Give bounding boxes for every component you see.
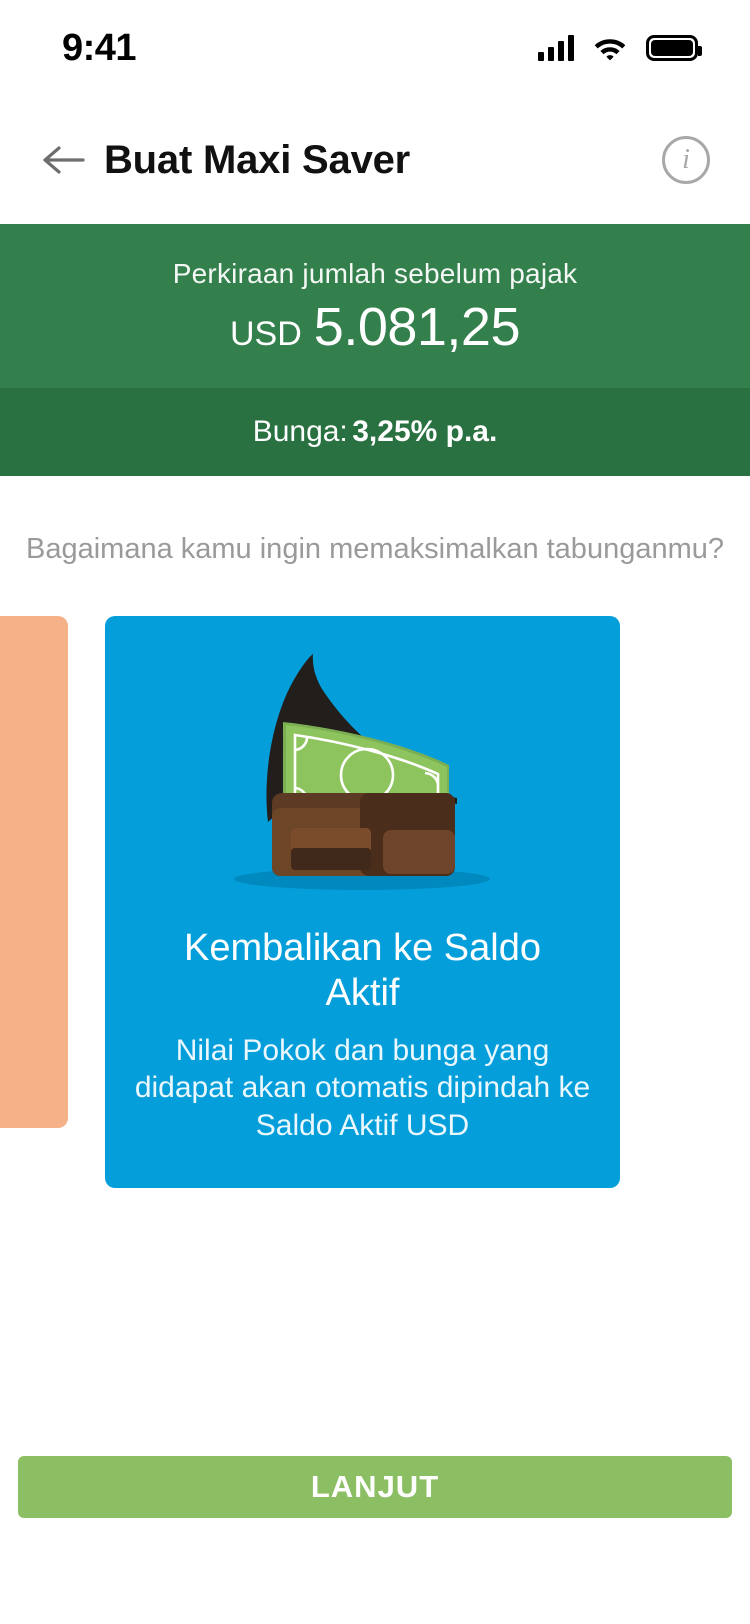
option-card-description: Nilai Pokok dan bunga yang didapat akan … — [105, 1032, 620, 1145]
wallet-with-money-icon — [105, 632, 620, 902]
app-screen: 9:41 Buat Maxi Saver i Perkiraan jumlah … — [0, 0, 750, 1624]
back-arrow-icon[interactable] — [36, 132, 92, 188]
estimate-banner: Perkiraan jumlah sebelum pajak USD 5.081… — [0, 224, 750, 388]
option-card-title: Kembalikan ke Saldo Aktif — [105, 926, 620, 1016]
status-time: 9:41 — [62, 29, 136, 67]
status-icons — [538, 35, 698, 61]
estimate-label: Perkiraan jumlah sebelum pajak — [0, 258, 750, 290]
option-carousel[interactable]: Kembalikan ke Saldo Aktif Nilai Pokok da… — [0, 616, 750, 1256]
interest-value: 3,25% p.a. — [352, 415, 497, 448]
continue-button[interactable]: LANJUT — [18, 1456, 732, 1518]
footer: LANJUT — [0, 1456, 750, 1518]
interest-label: Bunga: — [253, 415, 348, 448]
interest-rate-bar: Bunga: 3,25% p.a. — [0, 388, 750, 476]
question-text: Bagaimana kamu ingin memaksimalkan tabun… — [0, 476, 750, 566]
info-icon[interactable]: i — [662, 136, 710, 184]
estimate-amount: USD 5.081,25 — [0, 296, 750, 358]
status-bar: 9:41 — [0, 0, 750, 96]
battery-icon — [646, 35, 698, 61]
currency-code: USD — [230, 315, 302, 354]
page-title: Buat Maxi Saver — [104, 138, 662, 183]
option-card-kembalikan-saldo-aktif[interactable]: Kembalikan ke Saldo Aktif Nilai Pokok da… — [105, 616, 620, 1188]
app-header: Buat Maxi Saver i — [0, 96, 750, 224]
wifi-icon — [593, 35, 627, 61]
option-card-previous[interactable] — [0, 616, 68, 1128]
amount-value: 5.081,25 — [314, 296, 520, 358]
signal-icon — [538, 35, 574, 61]
